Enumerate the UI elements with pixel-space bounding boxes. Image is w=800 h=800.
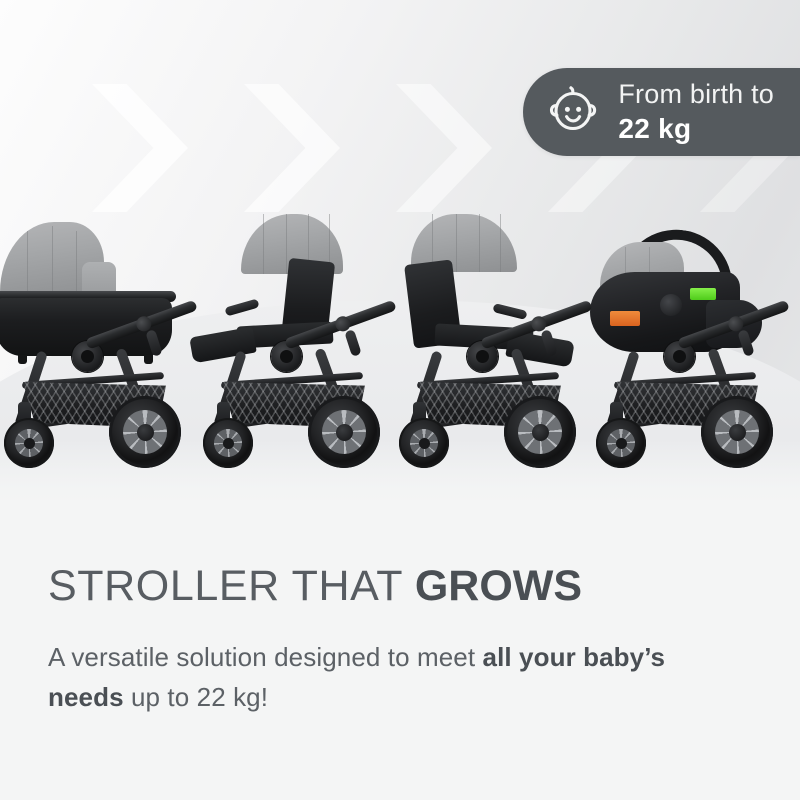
handlebar-post bbox=[344, 329, 362, 357]
age-weight-badge: From birth to 22 kg bbox=[523, 68, 800, 156]
subtitle-part-2: up to 22 kg! bbox=[124, 682, 268, 712]
product-lineup bbox=[0, 178, 800, 468]
badge-line-1: From birth to bbox=[618, 81, 774, 108]
rear-wheel bbox=[109, 396, 181, 468]
product-parent-facing-seat-mode bbox=[193, 196, 398, 468]
product-marketing-poster: From birth to 22 kg STROLLER THAT GROWS … bbox=[0, 0, 800, 800]
rear-wheel bbox=[504, 396, 576, 468]
product-infant-car-seat-mode bbox=[586, 196, 791, 468]
rear-wheel bbox=[701, 396, 773, 468]
handlebar-post bbox=[540, 329, 558, 357]
rear-wheel bbox=[308, 396, 380, 468]
green-indicator bbox=[690, 288, 716, 300]
front-wheel bbox=[203, 418, 253, 468]
handlebar-post bbox=[145, 329, 163, 357]
bumper-bar bbox=[224, 298, 259, 316]
front-wheel bbox=[399, 418, 449, 468]
stroller-chassis bbox=[193, 328, 398, 468]
baby-face-icon bbox=[545, 84, 601, 140]
hero-image-area: From birth to 22 kg bbox=[0, 0, 800, 500]
badge-text-block: From birth to 22 kg bbox=[618, 81, 774, 143]
subtitle-part-1: A versatile solution designed to meet bbox=[48, 642, 483, 672]
page-title: STROLLER THAT GROWS bbox=[48, 562, 748, 611]
headline-light-part: STROLLER THAT bbox=[48, 562, 415, 610]
warning-label bbox=[610, 311, 640, 326]
handle-pivot-knob bbox=[660, 294, 682, 316]
copy-panel: STROLLER THAT GROWS A versatile solution… bbox=[0, 500, 800, 800]
bumper-bar bbox=[492, 303, 527, 320]
product-world-facing-seat-mode bbox=[389, 196, 594, 468]
stroller-chassis bbox=[389, 328, 594, 468]
stroller-chassis bbox=[586, 328, 791, 468]
page-subtitle: A versatile solution designed to meet al… bbox=[48, 637, 738, 718]
headline-bold-part: GROWS bbox=[415, 562, 582, 610]
product-carrycot-mode bbox=[0, 196, 199, 468]
badge-line-2: 22 kg bbox=[618, 115, 774, 143]
stroller-chassis bbox=[0, 328, 199, 468]
handlebar-post bbox=[737, 329, 755, 357]
front-wheel bbox=[4, 418, 54, 468]
front-wheel bbox=[596, 418, 646, 468]
